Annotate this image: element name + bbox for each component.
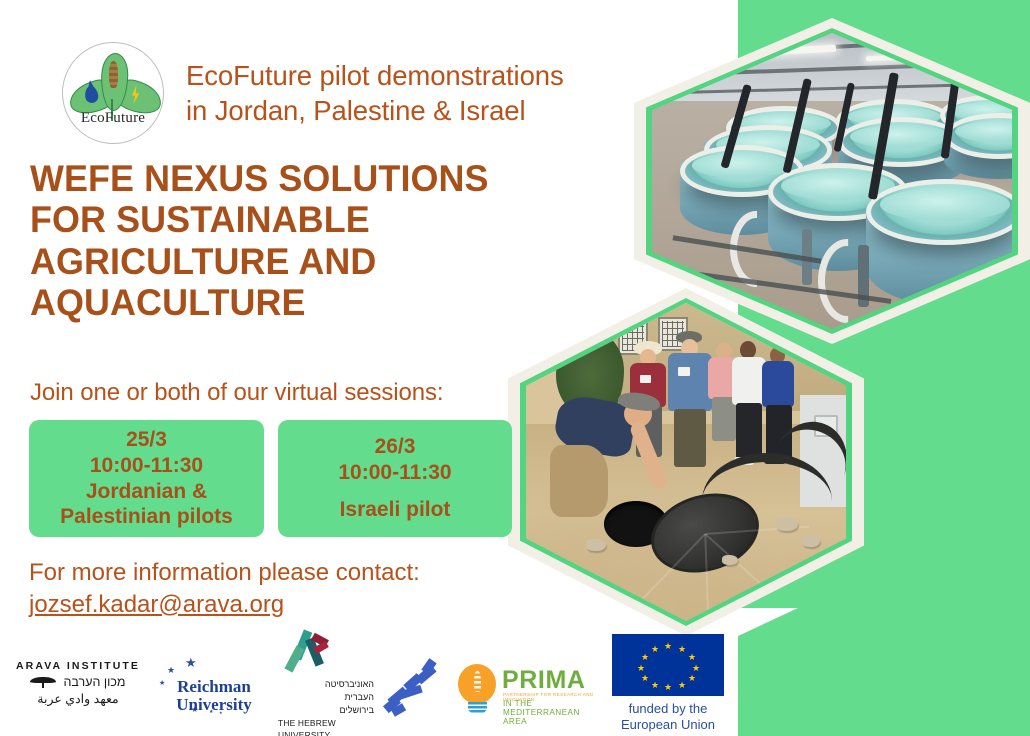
session-card-1[interactable]: 25/3 10:00-11:30 Jordanian & Palestinian…	[29, 420, 264, 537]
arava-hebrew-row: מכון הערבה	[8, 675, 148, 689]
huji-emblem-icon	[288, 630, 336, 674]
eu-flag-icon: ★ ★ ★ ★ ★ ★ ★ ★ ★ ★ ★ ★	[612, 634, 724, 696]
arava-english-name: ARAVA INSTITUTE	[8, 660, 148, 672]
session-boxes: 25/3 10:00-11:30 Jordanian & Palestinian…	[29, 420, 512, 537]
ecofuture-logo: EcoFuture	[62, 42, 164, 144]
torso	[668, 353, 712, 411]
blue-angular-logo	[382, 662, 446, 718]
header-title: EcoFuture pilot demonstrations in Jordan…	[186, 58, 564, 128]
torso	[732, 357, 766, 405]
join-sessions-line: Join one or both of our virtual sessions…	[30, 379, 443, 407]
arava-institute-logo: ARAVA INSTITUTE מכון הערבה معهد وادي عرب…	[8, 660, 148, 706]
huji-english-name: THE HEBREW UNIVERSITY OF JERUSALEM	[278, 718, 374, 736]
prima-wordmark: PRIMA	[502, 666, 586, 695]
reichman-name: Reichman University	[155, 678, 273, 714]
contact-block: For more information please contact: joz…	[29, 557, 420, 620]
contact-label: For more information please contact:	[29, 557, 420, 589]
star-icon: ★	[641, 674, 649, 683]
lightbulb-icon	[458, 664, 496, 704]
session-time: 10:00-11:30	[39, 453, 254, 479]
star-icon: ★	[688, 674, 696, 683]
session-audience: Jordanian & Palestinian pilots	[39, 479, 254, 530]
wheat-icon	[474, 671, 481, 692]
rock	[802, 535, 820, 547]
hebrew-university-logo: האוניברסיטה העברית בירושלים THE HEBREW U…	[278, 630, 374, 736]
arava-hebrew-name: מכון הערבה	[63, 675, 125, 689]
acacia-tree-icon	[30, 676, 56, 688]
fish-tank	[866, 179, 1012, 245]
eu-funding-logo: ★ ★ ★ ★ ★ ★ ★ ★ ★ ★ ★ ★ funded by the Eu…	[612, 634, 730, 732]
rock	[722, 555, 738, 565]
star-icon: ★	[637, 664, 645, 673]
eu-funding-caption: funded by the European Union	[612, 701, 724, 732]
session-time: 10:00-11:30	[288, 460, 502, 486]
prima-logo: PRIMA PARTNERSHIP FOR RESEARCH AND INNOV…	[458, 664, 598, 718]
contact-email-link[interactable]: jozsef.kadar@arava.org	[29, 589, 284, 621]
name-badge	[640, 375, 651, 383]
star-icon: ★	[664, 642, 672, 651]
legs	[550, 445, 608, 517]
star-icon: ★	[185, 656, 197, 669]
star-icon: ★	[651, 645, 659, 654]
star-icon: ★	[688, 653, 696, 662]
header: EcoFuture EcoFuture pilot demonstrations…	[62, 42, 564, 144]
reichman-university-logo: ★ ★ ★ ★ ★ ★ Reichman University	[155, 656, 273, 718]
session-date: 25/3	[39, 427, 254, 453]
ecofuture-wordmark: EcoFuture	[63, 110, 163, 127]
session-date: 26/3	[288, 434, 502, 460]
torso	[762, 361, 794, 407]
huji-text-block: האוניברסיטה העברית בירושלים THE HEBREW U…	[278, 678, 374, 736]
name-badge	[678, 367, 690, 376]
rock	[586, 539, 606, 551]
legs	[736, 403, 762, 459]
prima-tagline-bottom: IN THE MEDITERRANEAN AREA	[503, 699, 598, 726]
huji-hebrew-name: האוניברסיטה העברית בירושלים	[278, 678, 374, 716]
arava-arabic-name: معهد وادي عربة	[8, 691, 148, 706]
main-headline: WEFE NEXUS SOLUTIONS FOR SUSTAINABLE AGR…	[30, 158, 573, 324]
star-icon: ★	[651, 681, 659, 690]
star-icon: ★	[664, 683, 672, 692]
star-icon: ★	[678, 681, 686, 690]
poster-canvas: EcoFuture EcoFuture pilot demonstrations…	[0, 0, 1030, 736]
bulb-base-icon	[468, 702, 487, 714]
star-icon: ★	[692, 664, 700, 673]
star-icon: ★	[678, 645, 686, 654]
session-audience: Israeli pilot	[288, 497, 502, 523]
rock	[776, 517, 798, 531]
star-icon: ★	[167, 666, 175, 675]
wheat-icon	[109, 61, 118, 88]
legs	[674, 409, 706, 467]
star-icon: ★	[641, 653, 649, 662]
session-card-2[interactable]: 26/3 10:00-11:30 Israeli pilot	[278, 420, 512, 537]
footer-logos: ARAVA INSTITUTE מכון הערבה معهد وادي عرب…	[0, 628, 738, 736]
